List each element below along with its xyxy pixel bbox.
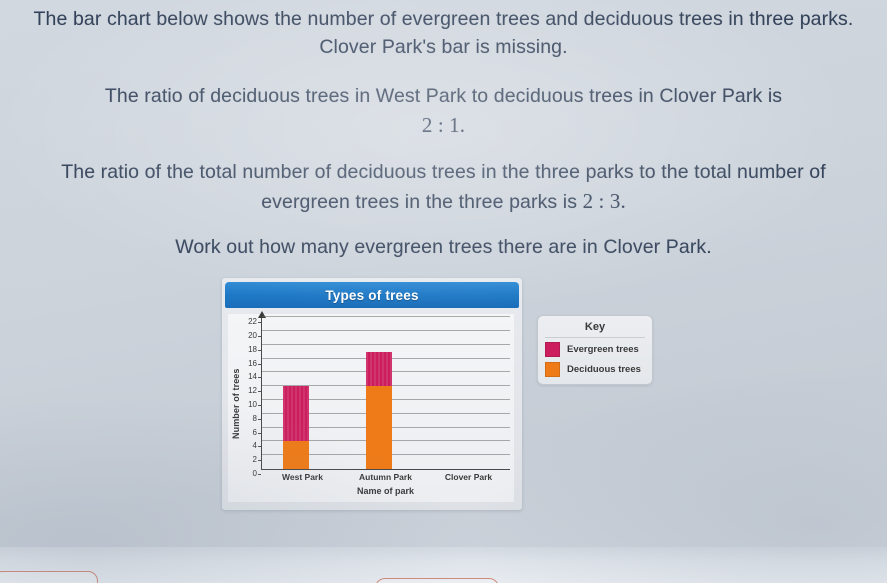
bar-segment-deciduous <box>283 441 309 469</box>
question-paragraph-3-text: The ratio of the total number of deciduo… <box>61 161 826 213</box>
ratio-value-2: 2 : 3. <box>583 189 626 213</box>
question-paragraph-1: The bar chart below shows the number of … <box>18 6 869 61</box>
y-axis-tick-labels: 0246810121416182022 <box>242 318 258 470</box>
y-axis-label: Number of trees <box>230 354 242 454</box>
gridline <box>262 330 510 331</box>
legend-item: Evergreen trees <box>545 342 645 357</box>
bar-west-park <box>283 386 309 469</box>
legend-item: Deciduous trees <box>545 362 645 377</box>
x-axis-category-labels: West ParkAutumn ParkClover Park <box>261 472 510 486</box>
bottom-control-center[interactable] <box>375 578 499 583</box>
legend-title: Key <box>545 321 645 338</box>
bar-segment-deciduous <box>366 386 392 469</box>
y-tick-label: 20 <box>248 332 257 340</box>
chart-and-key-region: Types of trees Number of trees 024681012… <box>0 278 887 518</box>
question-text: The bar chart below shows the number of … <box>0 0 887 262</box>
x-tick-label: Clover Park <box>445 472 492 482</box>
question-paragraph-3: The ratio of the total number of deciduo… <box>18 159 869 217</box>
ratio-value-1: 2 : 1. <box>422 113 465 137</box>
question-paragraph-2: The ratio of deciduous trees in West Par… <box>18 83 869 141</box>
y-tick-label: 10 <box>248 401 257 409</box>
legend-swatch-icon <box>545 362 560 377</box>
question-paragraph-2-text: The ratio of deciduous trees in West Par… <box>105 85 782 107</box>
bottom-toolbar-strip <box>0 547 887 583</box>
bottom-control-left[interactable] <box>0 571 98 583</box>
question-instruction: Work out how many evergreen trees there … <box>18 234 869 262</box>
legend-item-label: Deciduous trees <box>567 364 641 375</box>
legend-swatch-icon <box>545 342 560 357</box>
y-tick-label: 12 <box>248 387 257 395</box>
y-tick-label: 22 <box>248 318 257 326</box>
chart-plot-area: Number of trees 0246810121416182022 West… <box>228 314 514 502</box>
y-tick-label: 0 <box>253 470 257 478</box>
y-tick-label: 8 <box>253 415 257 423</box>
x-tick-label: West Park <box>282 472 323 482</box>
chart-title-bar: Types of trees <box>225 282 519 308</box>
bar-autumn-park <box>366 352 392 469</box>
legend-item-label: Evergreen trees <box>567 344 639 355</box>
y-tick-label: 4 <box>253 442 257 450</box>
bar-segment-evergreen <box>283 386 309 441</box>
plot-box <box>261 318 510 470</box>
bar-chart: Types of trees Number of trees 024681012… <box>222 278 522 510</box>
bar-segment-evergreen <box>366 352 392 387</box>
chart-title: Types of trees <box>325 288 418 303</box>
legend-items: Evergreen treesDeciduous trees <box>545 342 645 377</box>
gridline <box>262 316 510 317</box>
y-tick-label: 18 <box>248 346 257 354</box>
gridline <box>262 344 510 345</box>
y-tick-label: 6 <box>253 429 257 437</box>
y-tick-label: 2 <box>253 456 257 464</box>
y-tick-label: 14 <box>248 373 257 381</box>
chart-legend: Key Evergreen treesDeciduous trees <box>537 315 653 385</box>
x-axis-label: Name of park <box>261 486 510 496</box>
x-tick-label: Autumn Park <box>359 472 412 482</box>
y-tick-label: 16 <box>248 360 257 368</box>
